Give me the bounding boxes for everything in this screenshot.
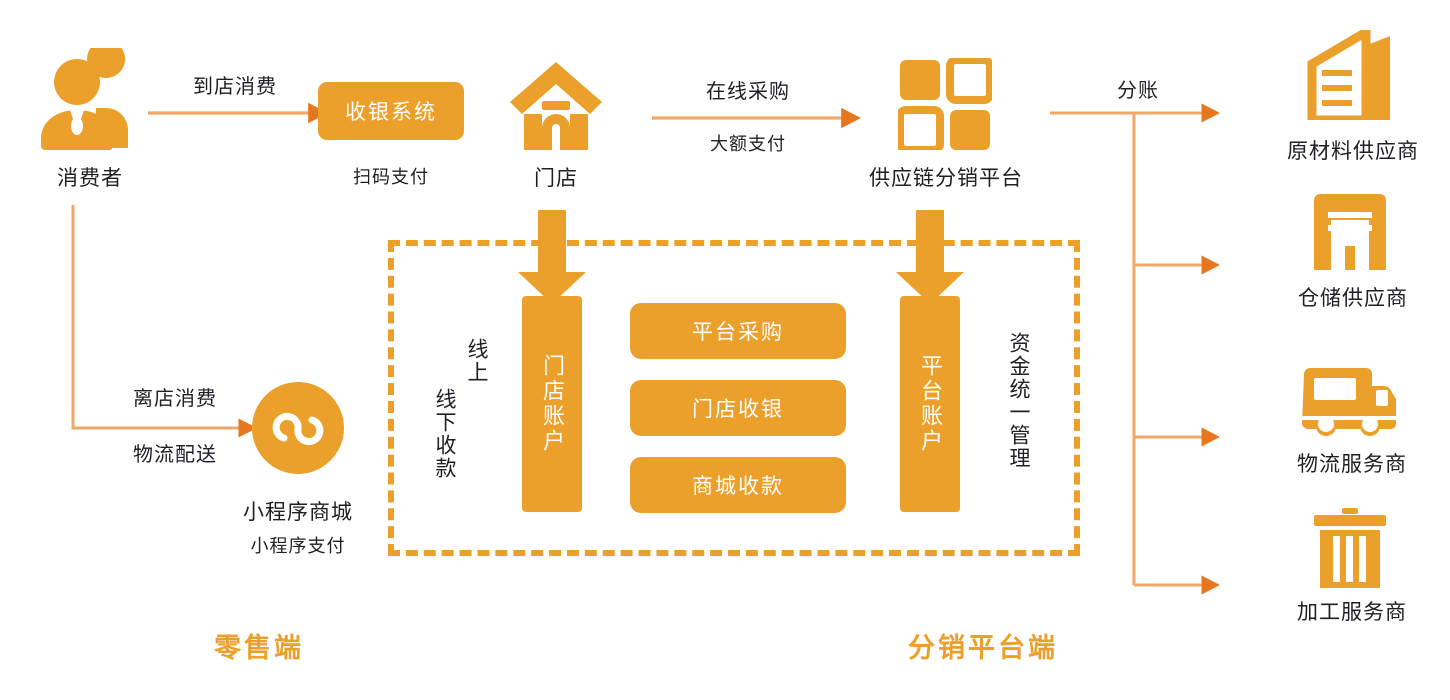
consumer-people-icon (34, 48, 146, 150)
diagram-canvas: 消费者 到店消费 收银系统 扫码支付 门店 在线采购 大额支付 供应链分销平台 … (0, 0, 1450, 700)
node-sublabel-pos: 扫码支付 (311, 163, 471, 189)
platform-account-bar[interactable]: 平台账户 (900, 296, 960, 512)
fund-pool-note-unified: 资金统一管理 (1008, 332, 1029, 542)
building-icon (1302, 30, 1398, 120)
section-label-retail: 零售端 (214, 626, 304, 665)
truck-icon (1302, 366, 1398, 438)
mini-program-icon (252, 382, 344, 474)
store-account-bar[interactable]: 门店账户 (522, 296, 582, 512)
node-label-consumer: 消费者 (0, 162, 180, 192)
channel-store-cashier[interactable]: 门店收银 (630, 380, 846, 436)
supplier-label-logistics: 物流服务商 (1266, 448, 1438, 478)
edge-label-consumer-to-miniapp-top: 离店消费 (100, 382, 250, 411)
platform-account-label: 平台账户 (919, 354, 941, 454)
supplier-label-raw-material: 原材料供应商 (1258, 135, 1448, 165)
node-label-pos: 收银系统 (345, 96, 437, 126)
section-label-platform: 分销平台端 (908, 626, 1058, 665)
edge-label-split-account: 分账 (1078, 74, 1198, 103)
node-sublabel-miniapp: 小程序支付 (218, 532, 378, 558)
node-label-store: 门店 (496, 162, 616, 192)
edge-label-consumer-to-miniapp-bottom: 物流配送 (100, 438, 250, 467)
fund-pool-note-offline: 线下收款 (434, 388, 455, 568)
fund-pool-note-online: 线上 (466, 338, 487, 508)
channel-label-mall-collection: 商城收款 (692, 470, 784, 500)
store-account-label: 门店账户 (541, 354, 563, 454)
grid-squares-icon (898, 58, 992, 150)
edge-label-store-to-platform-top: 在线采购 (648, 75, 848, 104)
channel-label-store-cashier: 门店收银 (692, 393, 784, 423)
factory-icon (1312, 508, 1388, 588)
edge-label-consumer-to-pos: 到店消费 (150, 70, 320, 99)
node-label-platform: 供应链分销平台 (840, 162, 1052, 192)
node-label-miniapp: 小程序商城 (218, 496, 378, 526)
edge-label-store-to-platform-bottom: 大额支付 (648, 130, 848, 156)
supplier-label-processing: 加工服务商 (1266, 596, 1438, 626)
node-pos-system[interactable]: 收银系统 (318, 82, 464, 140)
channel-label-platform-purchase: 平台采购 (692, 316, 784, 346)
store-house-icon (508, 58, 604, 150)
warehouse-icon (1308, 190, 1392, 270)
channel-mall-collection[interactable]: 商城收款 (630, 457, 846, 513)
channel-platform-purchase[interactable]: 平台采购 (630, 303, 846, 359)
supplier-label-warehouse: 仓储供应商 (1268, 282, 1438, 312)
